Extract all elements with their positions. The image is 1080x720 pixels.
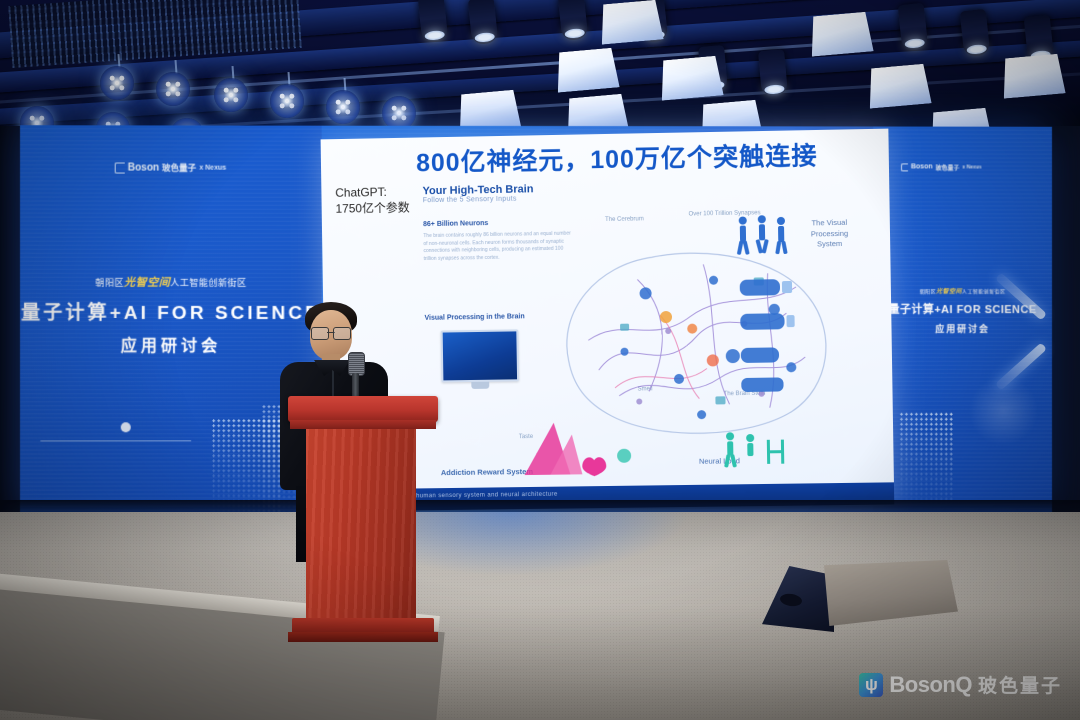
boson-logo-en: Boson: [128, 162, 159, 173]
psi-symbol-icon: [859, 673, 883, 697]
supertitle-highlight: 光智空间: [124, 277, 170, 289]
chevron-bar-upper: [995, 272, 1047, 320]
monitor-cabinet: [824, 560, 958, 626]
lens-right: [333, 327, 351, 340]
podium-top-surface: [288, 396, 438, 422]
moving-head-light-icon: [898, 3, 929, 51]
supertitle-suffix: 人工智能创新街区: [170, 278, 246, 288]
supertitle-prefix: 朝阳区: [95, 278, 124, 288]
infographic-title: Your High-Tech Brain: [422, 183, 533, 197]
boson-logo-cn: 玻色量子: [936, 162, 960, 171]
chatgpt-label: ChatGPT:: [335, 183, 423, 201]
boson-logo-en: Boson: [911, 163, 933, 170]
infographic-subtitle: Follow the 5 Sensory Inputs: [423, 196, 517, 205]
accent-shapes-orange: [646, 298, 738, 390]
eyeglasses-icon: [311, 327, 351, 338]
lens-left: [311, 327, 329, 340]
fresnel-light-icon: [866, 63, 931, 108]
infographic-section-heading: 86+ Billion Neurons: [423, 220, 488, 228]
people-pictogram: [733, 213, 792, 260]
boson-logo-partner: x Nexus: [962, 164, 981, 170]
moving-head-light-icon: [960, 9, 991, 57]
boson-logo-cn: 玻色量子: [162, 162, 196, 174]
brain-infographic: Your High-Tech Brain Follow the 5 Sensor…: [416, 175, 889, 486]
stage-monitor-speaker: [762, 556, 958, 632]
banner-panel-left: Boson 玻色量子 x Nexus 朝阳区光智空间人工智能创新街区 量子计算+…: [20, 125, 322, 519]
banner-supertitle-left: 朝阳区光智空间人工智能创新街区: [20, 274, 322, 290]
chevron-light-decor: [990, 270, 1060, 410]
boson-logo-right: Boson 玻色量子 x Nexus: [901, 162, 981, 171]
device-pictograms: [736, 273, 798, 394]
fresnel-light-icon: [808, 11, 873, 56]
podium-column: [306, 429, 416, 619]
podium-plinth: [288, 632, 438, 642]
fresnel-light-icon: [554, 47, 619, 92]
infographic-label: Visual Processing in the Brain: [424, 313, 524, 322]
dot-matrix-graphic: [899, 412, 955, 504]
moving-head-light-icon: [758, 49, 788, 97]
podium-lip: [290, 420, 436, 429]
slide-headline: 800亿神经元，100万亿个突触连接: [416, 135, 883, 180]
accent-shapes: [520, 416, 641, 480]
par-light-icon: [326, 90, 360, 124]
boson-logo-mark: [901, 163, 908, 171]
chatgpt-params: 1750亿个参数: [335, 199, 423, 217]
moving-head-light-icon: [468, 0, 499, 45]
chatgpt-annotation: ChatGPT: 1750亿个参数: [335, 183, 423, 217]
lectern-podium: [288, 396, 438, 654]
boson-logo-mark: [115, 162, 125, 173]
ceiling-lighting-rig: [0, 0, 1080, 132]
par-light-icon: [270, 84, 304, 118]
supertitle-highlight: 光智空间: [936, 289, 962, 295]
chevron-bar-lower: [995, 342, 1047, 390]
watermark-cn: 玻色量子: [978, 671, 1062, 698]
fresnel-light-icon: [658, 55, 723, 100]
banner-subtitle-left: 应用研讨会: [20, 332, 322, 356]
conference-stage-photo: Boson 玻色量子 x Nexus 朝阳区光智空间人工智能创新街区 量子计算+…: [0, 0, 1080, 720]
par-light-icon: [156, 72, 190, 106]
computer-monitor-icon: [441, 329, 519, 382]
fresnel-light-icon: [598, 0, 663, 45]
boson-logo-partner: x Nexus: [199, 164, 226, 171]
boson-logo-left: Boson 玻色量子 x Nexus: [115, 161, 227, 173]
decor-curve: [40, 440, 191, 441]
par-light-icon: [214, 78, 248, 112]
fresnel-light-icon: [1000, 53, 1065, 98]
supertitle-prefix: 朝阳区: [920, 289, 936, 295]
accent-shapes: [720, 427, 791, 476]
moving-head-light-icon: [418, 0, 449, 43]
par-light-icon: [100, 66, 134, 100]
banner-title-left: 朝阳区光智空间人工智能创新街区 量子计算+AI FOR SCIENCE 应用研讨…: [20, 274, 322, 356]
banner-maintitle-left: 量子计算+AI FOR SCIENCE: [20, 298, 322, 325]
watermark-logo: BosonQ 玻色量子: [859, 671, 1062, 698]
watermark-en: BosonQ: [889, 672, 972, 698]
decor-dot: [121, 422, 131, 432]
